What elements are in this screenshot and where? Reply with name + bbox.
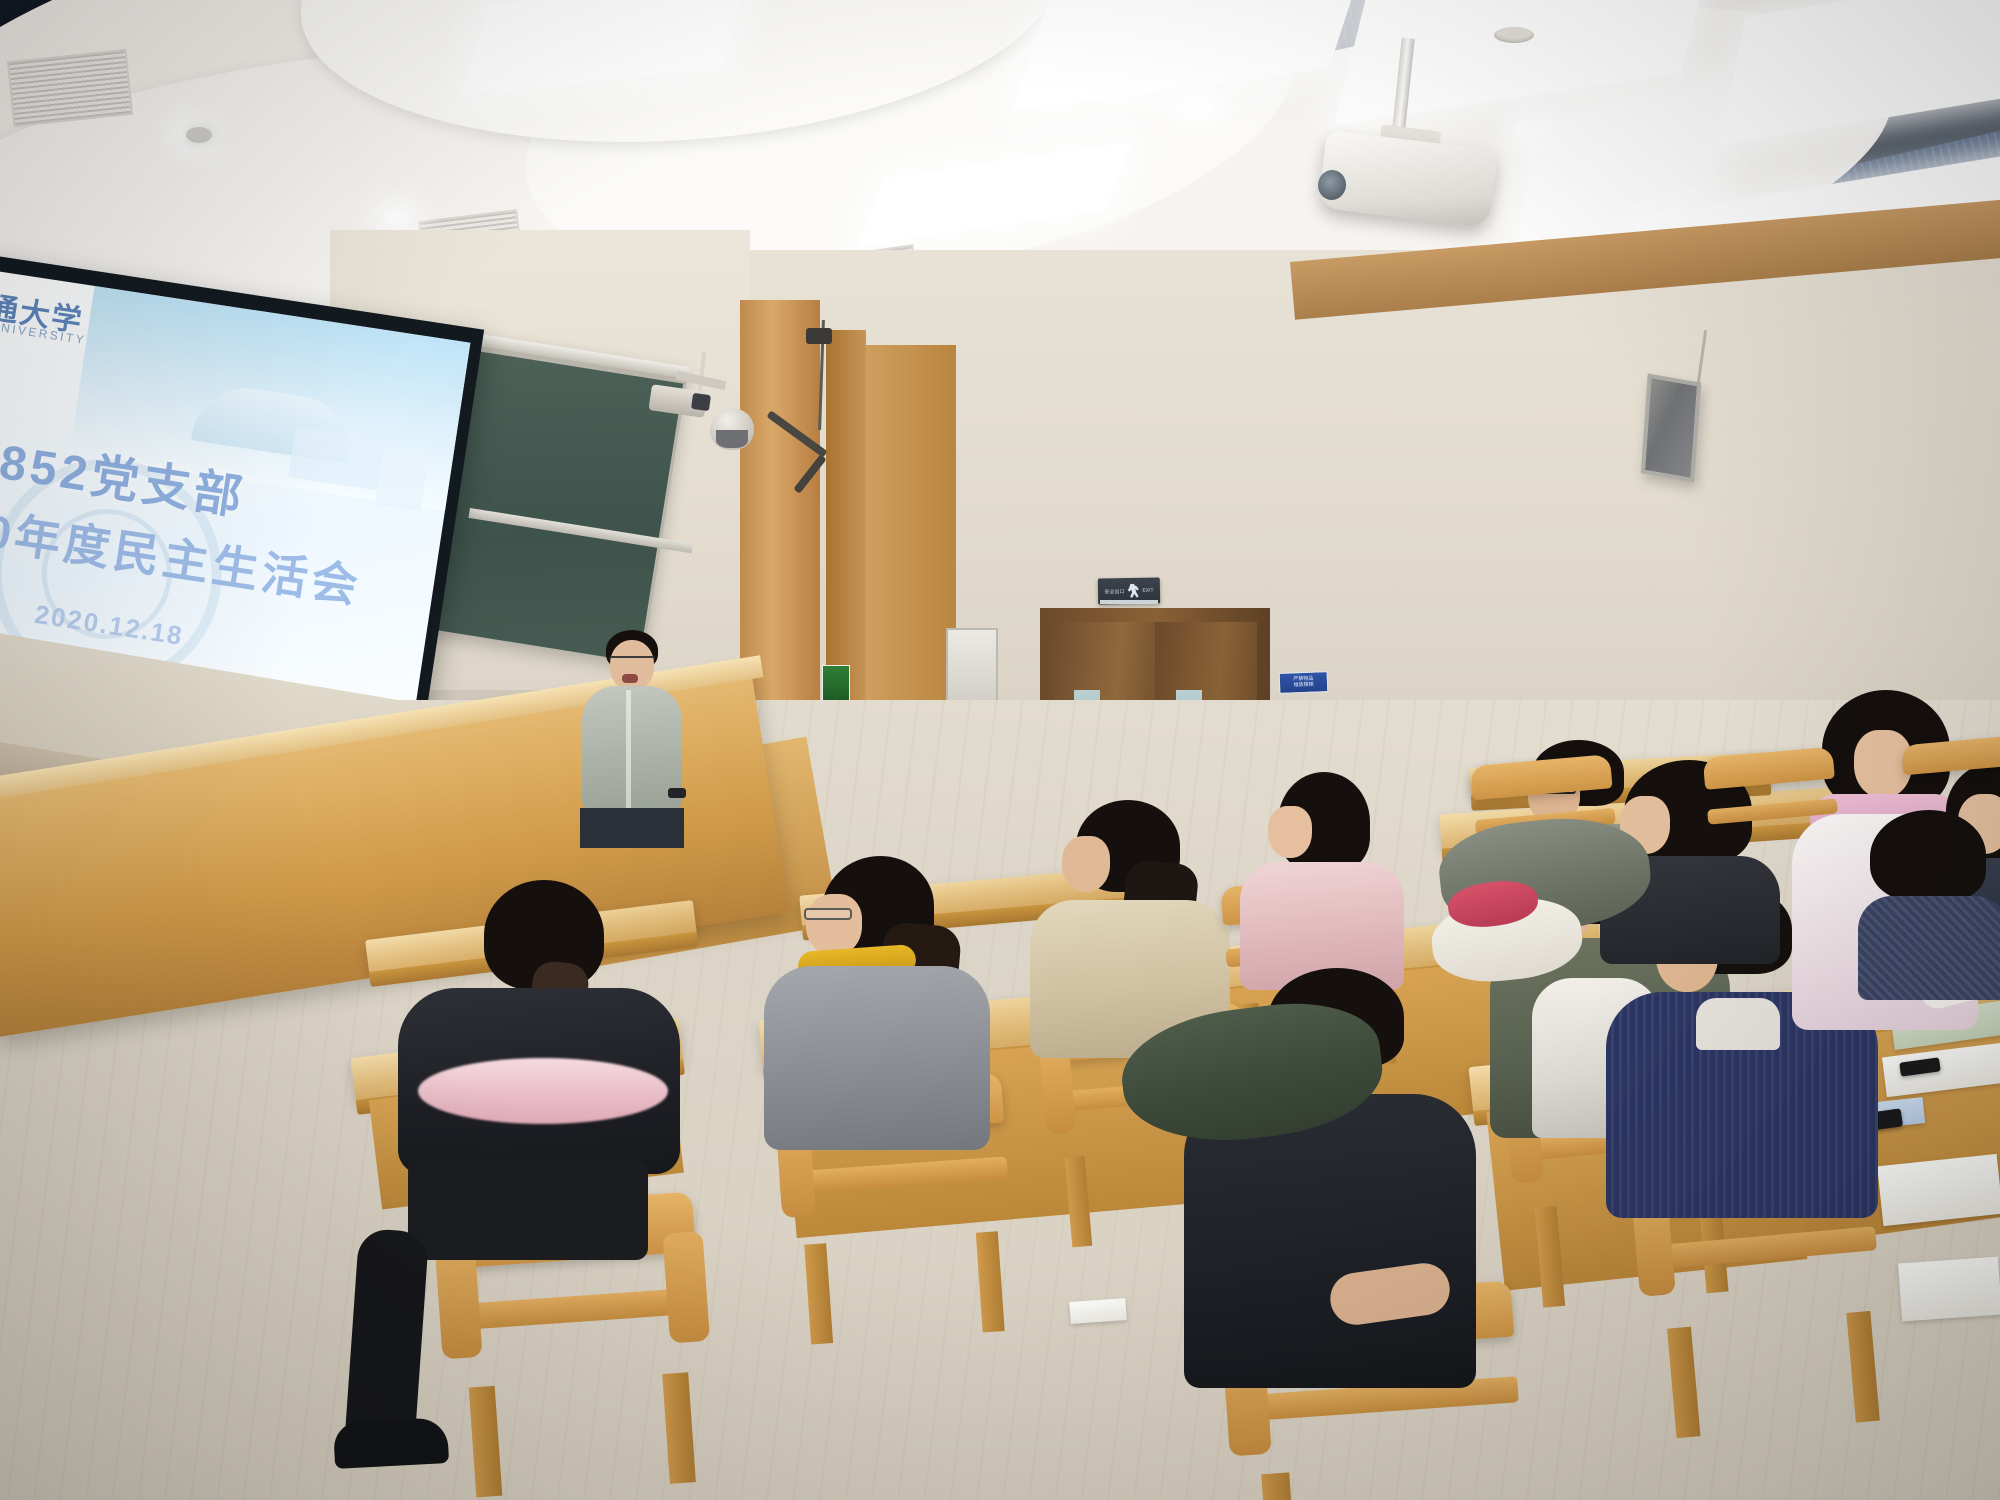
presenter-mouth — [622, 674, 638, 683]
shirt-collar — [1696, 998, 1780, 1050]
ceiling-spotlight — [383, 209, 409, 225]
attendee-row2-left — [760, 852, 1010, 1152]
chair[interactable] — [1703, 747, 1844, 888]
ceiling-hvac-vent — [7, 49, 133, 127]
ceiling-spotlight — [186, 127, 212, 143]
running-person-icon — [1126, 583, 1140, 598]
gray-hoodie — [764, 966, 990, 1150]
slide-building-graphic — [375, 449, 429, 511]
presenter — [576, 630, 686, 840]
navy-patterned-top — [1858, 896, 2000, 1000]
dome-camera-lens-icon — [716, 430, 748, 448]
smoke-detector-icon — [1494, 27, 1534, 43]
wall-control-box[interactable] — [946, 628, 998, 710]
boot-leg — [345, 1228, 429, 1442]
ceiling-mount-node — [806, 328, 832, 344]
ceiling-spotlight — [1514, 122, 1540, 138]
shirt-placket — [626, 690, 631, 810]
wall-green-sign — [822, 665, 850, 701]
wall-notice-sign: 严禁物品 堆放楼梯 — [1279, 671, 1329, 694]
paper-sheet[interactable] — [1069, 1298, 1126, 1324]
attendee-face — [806, 894, 862, 956]
exit-sign-base — [1100, 600, 1158, 604]
wristwatch-icon — [668, 788, 686, 798]
boot — [333, 1417, 449, 1469]
lecture-hall-photo: 安全出口 EXIT 严禁物品 堆放楼梯 — [0, 0, 2000, 1500]
wall-notice-line2: 堆放楼梯 — [1293, 682, 1313, 688]
pink-fur-collar — [418, 1058, 668, 1124]
presenter-torso — [582, 686, 682, 812]
chair[interactable] — [1901, 735, 2000, 865]
exit-sign-label-en: EXIT — [1142, 588, 1153, 594]
attendee-front-left — [392, 880, 682, 1260]
wall-speaker — [1641, 373, 1701, 482]
attendee-face — [1062, 836, 1110, 892]
ceiling-spotlight — [1186, 97, 1212, 113]
attendee-face — [1268, 806, 1312, 858]
exit-sign-label-cn: 安全出口 — [1104, 588, 1124, 595]
paper-documents[interactable] — [1877, 1154, 2000, 1226]
glasses-icon — [804, 908, 852, 920]
presenter-pants — [580, 808, 684, 848]
camera-lens-icon — [691, 393, 711, 411]
attendee-pink-sweater — [1240, 790, 1410, 990]
attendee-lower-body — [408, 1160, 648, 1260]
paper-documents[interactable] — [1898, 1257, 2000, 1322]
glasses-icon — [609, 656, 655, 665]
